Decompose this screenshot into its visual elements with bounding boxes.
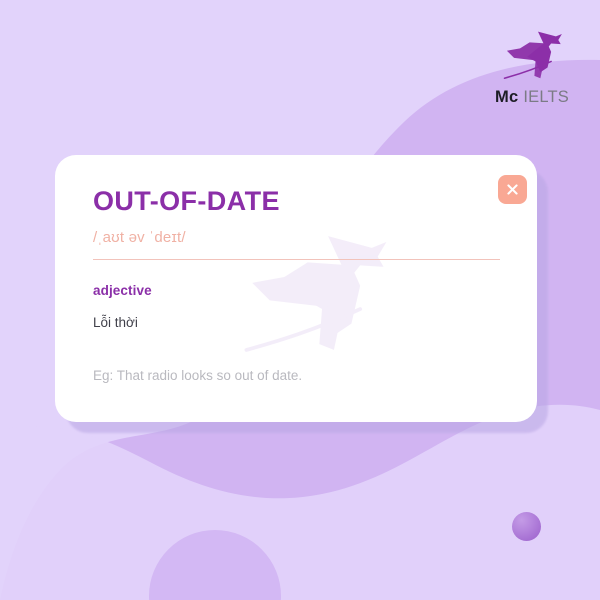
vocabulary-card: OUT-OF-DATE /ˌaʊt əv ˈdeɪt/ adjective Lỗ… — [55, 155, 537, 422]
close-icon — [506, 183, 519, 196]
brand-wordmark-ielts: IELTS — [523, 88, 569, 107]
close-button[interactable] — [498, 175, 527, 204]
decorative-circle — [149, 530, 281, 600]
card-content: OUT-OF-DATE /ˌaʊt əv ˈdeɪt/ adjective Lỗ… — [55, 155, 537, 383]
definition-text: Lỗi thời — [93, 315, 498, 330]
vocabulary-card-screen: Mc IELTS OUT-OF-DATE /ˌaʊt əv ˈdeɪt/ adj… — [0, 0, 600, 600]
brand-wordmark: Mc IELTS — [495, 88, 569, 107]
decorative-blob-secondary — [0, 405, 600, 600]
hummingbird-origami-icon — [496, 28, 568, 83]
phonetic-transcription: /ˌaʊt əv ˈdeɪt/ — [93, 229, 498, 246]
part-of-speech: adjective — [93, 283, 498, 298]
decorative-sphere — [512, 512, 541, 541]
example-sentence: Eg: That radio looks so out of date. — [93, 368, 498, 383]
brand-logo: Mc IELTS — [486, 28, 578, 112]
card-divider — [93, 259, 500, 260]
brand-wordmark-mc: Mc — [495, 88, 518, 107]
headword: OUT-OF-DATE — [93, 187, 498, 217]
